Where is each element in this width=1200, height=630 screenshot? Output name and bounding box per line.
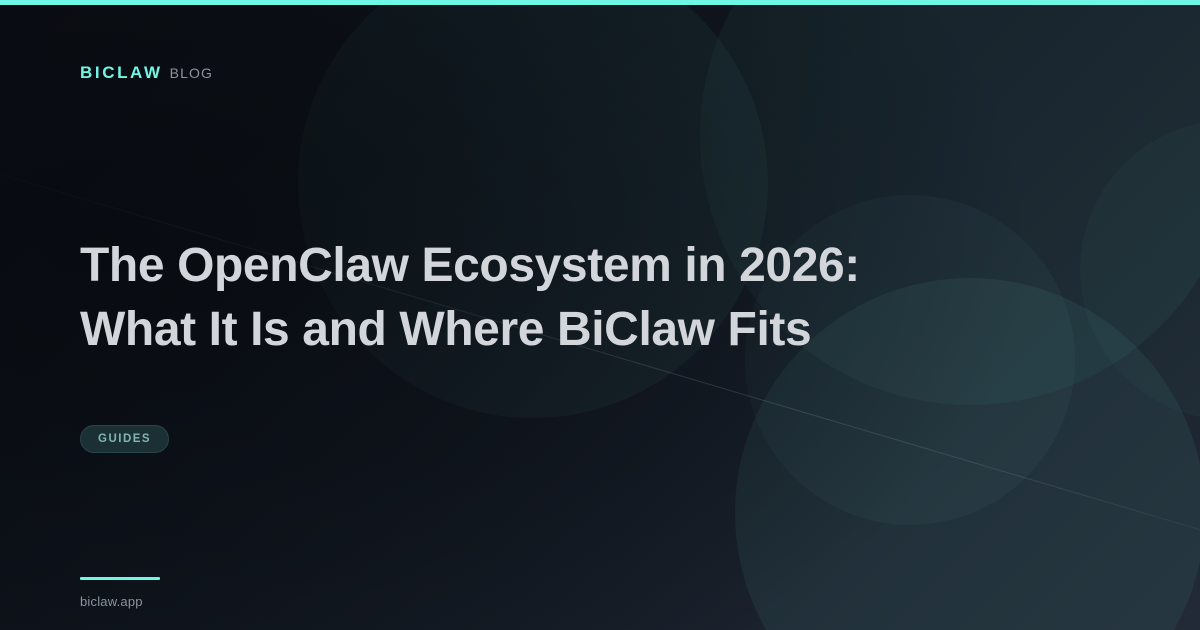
footer-accent-rule bbox=[80, 577, 160, 580]
brand-mark: BICLAW bbox=[80, 63, 163, 83]
top-accent-strip bbox=[0, 0, 1200, 5]
social-share-card: BICLAW BLOG The OpenClaw Ecosystem in 20… bbox=[0, 0, 1200, 630]
page-title: The OpenClaw Ecosystem in 2026: What It … bbox=[80, 234, 980, 362]
tag-list: GUIDES bbox=[80, 425, 169, 453]
status-badge[interactable]: GUIDES bbox=[80, 425, 169, 453]
brand-lockup[interactable]: BICLAW BLOG bbox=[80, 63, 213, 83]
brand-subtitle: BLOG bbox=[170, 65, 213, 81]
card-content: BICLAW BLOG The OpenClaw Ecosystem in 20… bbox=[0, 0, 1200, 630]
card-footer: biclaw.app bbox=[80, 577, 160, 609]
footer-domain: biclaw.app bbox=[80, 594, 160, 609]
page-title-line-2: It Is and Where BiClaw Fits bbox=[209, 303, 812, 356]
